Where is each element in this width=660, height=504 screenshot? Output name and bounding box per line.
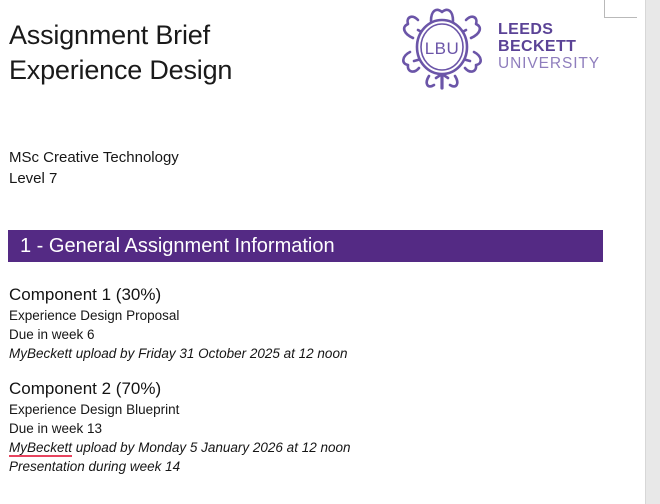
- lbu-monogram: LBU: [425, 39, 460, 58]
- document-canvas: Assignment Brief Experience Design: [0, 0, 660, 504]
- course-meta-block: MSc Creative Technology Level 7: [9, 147, 409, 189]
- spellcheck-flagged-word[interactable]: MyBeckett: [9, 440, 72, 457]
- wordmark-beckett: BECKETT: [498, 38, 610, 55]
- page-title-line-2: Experience Design: [9, 53, 389, 88]
- component-heading: Component 2 (70%): [9, 377, 569, 400]
- course-name: MSc Creative Technology: [9, 147, 409, 168]
- components-area: Component 1 (30%)Experience Design Propo…: [9, 283, 569, 490]
- component-block: Component 2 (70%)Experience Design Bluep…: [9, 377, 569, 476]
- document-header: Assignment Brief Experience Design: [0, 0, 645, 110]
- page-gutter: [645, 0, 660, 504]
- component-detail-line: Experience Design Proposal: [9, 306, 569, 325]
- component-detail-line: Presentation during week 14: [9, 457, 569, 476]
- document-title-block: Assignment Brief Experience Design: [9, 18, 389, 88]
- brand-wordmark: LEEDS BECKETT UNIVERSITY: [498, 21, 610, 73]
- component-heading: Component 1 (30%): [9, 283, 569, 306]
- component-detail-line: Experience Design Blueprint: [9, 400, 569, 419]
- course-level: Level 7: [9, 168, 409, 189]
- section-1-heading-bar: 1 - General Assignment Information: [8, 230, 603, 262]
- lbu-rose-logo-icon: LBU: [396, 6, 488, 90]
- component-detail-line: MyBeckett upload by Monday 5 January 202…: [9, 438, 569, 457]
- component-detail-line: Due in week 13: [9, 419, 569, 438]
- wordmark-leeds: LEEDS: [498, 21, 610, 38]
- component-detail-line: MyBeckett upload by Friday 31 October 20…: [9, 344, 569, 363]
- brand-lockup: LBU LEEDS BECKETT UNIVERSITY: [396, 6, 611, 90]
- section-1-heading-label: 1 - General Assignment Information: [20, 233, 335, 259]
- component-detail-text: upload by Monday 5 January 2026 at 12 no…: [72, 440, 350, 455]
- wordmark-university: UNIVERSITY: [498, 55, 610, 73]
- component-detail-line: Due in week 6: [9, 325, 569, 344]
- component-block: Component 1 (30%)Experience Design Propo…: [9, 283, 569, 363]
- page-title-line-1: Assignment Brief: [9, 18, 389, 53]
